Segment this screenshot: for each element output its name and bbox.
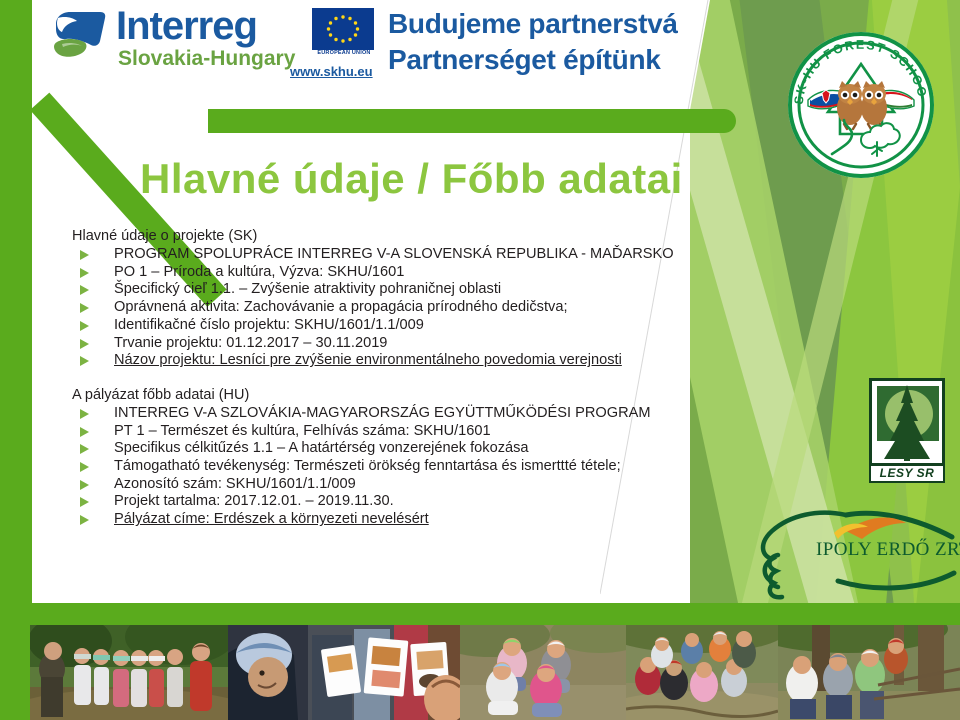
triangle-bullet-icon	[80, 321, 89, 331]
list-item-text: Oprávnená aktivita: Zachovávanie a propa…	[114, 299, 568, 315]
content-body: Hlavné údaje o projekte (SK) PROGRAM SPO…	[72, 228, 772, 529]
slogan-slovak: Budujeme partnerstvá	[388, 6, 678, 42]
list-item: INTERREG V-A SZLOVÁKIA-MAGYARORSZÁG EGYÜ…	[72, 405, 772, 422]
ipoly-erdo-zrt-label: IPOLY ERDŐ ZRT.	[816, 539, 960, 561]
list-item: Názov projektu: Lesníci pre zvýšenie env…	[72, 352, 772, 369]
list-item-text: Špecifický cieľ 1.1. – Zvýšenie atraktiv…	[114, 281, 501, 297]
triangle-bullet-icon	[80, 462, 89, 472]
triangle-bullet-icon	[80, 444, 89, 454]
list-item: PROGRAM SPOLUPRÁCE INTERREG V-A SLOVENSK…	[72, 246, 772, 263]
photo-children-with-cards	[228, 625, 460, 720]
list-item-text: INTERREG V-A SZLOVÁKIA-MAGYARORSZÁG EGYÜ…	[114, 405, 651, 421]
triangle-bullet-icon	[80, 250, 89, 260]
list-item-text: Azonosító szám: SKHU/1601/1.1/009	[114, 476, 356, 492]
list-item: Špecifický cieľ 1.1. – Zvýšenie atraktiv…	[72, 281, 772, 298]
triangle-bullet-icon	[80, 480, 89, 490]
triangle-bullet-icon	[80, 356, 89, 366]
european-union-flag	[312, 8, 374, 50]
bullet-list-sk: PROGRAM SPOLUPRÁCE INTERREG V-A SLOVENSK…	[72, 246, 772, 369]
section-spacer	[72, 370, 772, 387]
skhu-website-link[interactable]: www.skhu.eu	[290, 64, 373, 79]
list-item: Támogatható tevékenység: Természeti örök…	[72, 458, 772, 475]
triangle-bullet-icon	[80, 497, 89, 507]
triangle-bullet-icon	[80, 409, 89, 419]
photo-blindfold-forest-walk	[30, 625, 228, 720]
lesy-sr-logo: LESY SR	[869, 378, 945, 486]
list-item: Azonosító szám: SKHU/1601/1.1/009	[72, 476, 772, 493]
photo-strip	[30, 625, 960, 720]
list-item-text: Názov projektu: Lesníci pre zvýšenie env…	[114, 352, 622, 368]
header-logos: Interreg Slovakia-Hungary	[40, 2, 760, 102]
triangle-bullet-icon	[80, 427, 89, 437]
lesy-sr-label: LESY SR	[869, 464, 945, 483]
list-item: Specifikus célkitűzés 1.1 – A határtérsé…	[72, 440, 772, 457]
list-item: Trvanie projektu: 01.12.2017 – 30.11.201…	[72, 335, 772, 352]
list-item-text: Specifikus célkitűzés 1.1 – A határtérsé…	[114, 440, 529, 456]
list-item-text: Trvanie projektu: 01.12.2017 – 30.11.201…	[114, 335, 387, 351]
list-item-text: PT 1 – Természet és kultúra, Felhívás sz…	[114, 423, 491, 439]
interreg-subtitle: Slovakia-Hungary	[118, 47, 295, 71]
list-item-text: Identifikačné číslo projektu: SKHU/1601/…	[114, 317, 424, 333]
presentation-slide: Interreg Slovakia-Hungary	[0, 0, 960, 720]
bullet-list-hu: INTERREG V-A SZLOVÁKIA-MAGYARORSZÁG EGYÜ…	[72, 405, 772, 528]
list-item: Identifikačné číslo projektu: SKHU/1601/…	[72, 317, 772, 334]
list-item-text: Projekt tartalma: 2017.12.01. – 2019.11.…	[114, 493, 394, 509]
triangle-bullet-icon	[80, 515, 89, 525]
interreg-wordmark: Interreg	[116, 4, 257, 49]
triangle-bullet-icon	[80, 303, 89, 313]
list-item: Oprávnená aktivita: Zachovávanie a propa…	[72, 299, 772, 316]
list-item-text: PROGRAM SPOLUPRÁCE INTERREG V-A SLOVENSK…	[114, 246, 674, 262]
slogan-hungarian: Partnerséget építünk	[388, 42, 678, 78]
list-item-text: Pályázat címe: Erdészek a környezeti nev…	[114, 511, 429, 527]
list-item: PO 1 – Príroda a kultúra, Výzva: SKHU/16…	[72, 264, 772, 281]
photo-children-building-shelter	[778, 625, 960, 720]
european-union-caption: EUROPEAN UNION	[308, 50, 380, 56]
triangle-bullet-icon	[80, 339, 89, 349]
list-item: Pályázat címe: Erdészek a környezeti nev…	[72, 511, 772, 528]
list-item-text: Támogatható tevékenység: Természeti örök…	[114, 458, 621, 474]
ipoly-erdo-zrt-logo: IPOLY ERDŐ ZRT.	[738, 503, 960, 603]
left-green-bar	[0, 0, 32, 605]
page-title: Hlavné údaje / Főbb adatai	[140, 155, 683, 203]
photo-children-sitting-ground	[460, 625, 626, 720]
list-item: Projekt tartalma: 2017.12.01. – 2019.11.…	[72, 493, 772, 510]
section-heading-sk: Hlavné údaje o projekte (SK)	[72, 228, 772, 245]
interreg-logo: Interreg Slovakia-Hungary	[50, 6, 305, 84]
sk-hu-forest-schools-badge: SK-HU FOREST SCHOOLS	[786, 30, 936, 180]
triangle-bullet-icon	[80, 268, 89, 278]
pine-tree-icon	[872, 381, 942, 463]
photo-group-circle-forest	[626, 625, 778, 720]
interreg-mark-icon	[50, 8, 110, 64]
list-item-text: PO 1 – Príroda a kultúra, Výzva: SKHU/16…	[114, 264, 404, 280]
list-item: PT 1 – Természet és kultúra, Felhívás sz…	[72, 423, 772, 440]
slogan-block: Budujeme partnerstvá Partnerséget építün…	[388, 6, 678, 78]
frame-top-stroke	[208, 109, 736, 133]
triangle-bullet-icon	[80, 285, 89, 295]
section-heading-hu: A pályázat főbb adatai (HU)	[72, 387, 772, 404]
